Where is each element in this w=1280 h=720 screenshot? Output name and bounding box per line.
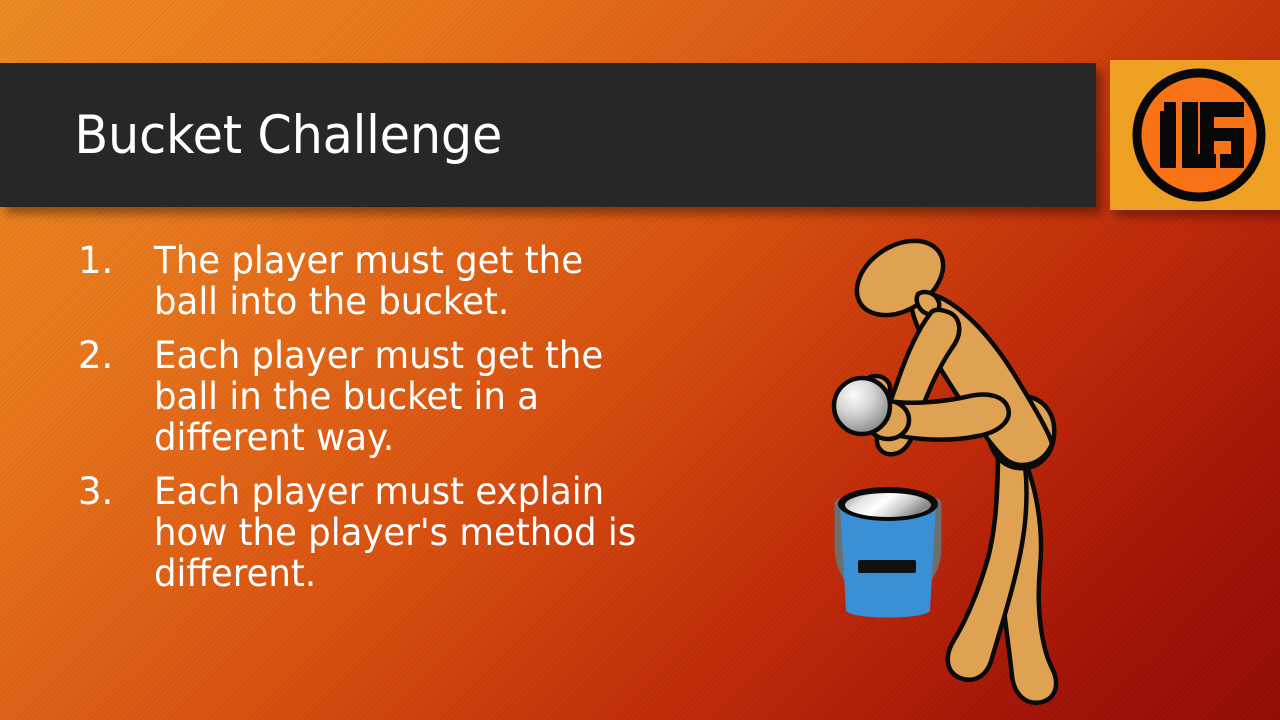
bucket-handle-grip xyxy=(858,560,916,573)
clipart-illustration xyxy=(820,228,1120,628)
bucket-rim-inner xyxy=(845,493,931,517)
bending-mannequin-figure xyxy=(843,226,1056,703)
page-title: Bucket Challenge xyxy=(0,109,502,162)
list-item: 3. Each player must explain how the play… xyxy=(78,471,658,594)
list-item-text: The player must get the ball into the bu… xyxy=(154,240,638,322)
list-item-number: 2. xyxy=(78,335,154,376)
list-item-text: Each player must get the ball in the buc… xyxy=(154,335,638,458)
list-item-number: 1. xyxy=(78,240,154,281)
ilg-monogram-logo xyxy=(1130,66,1268,204)
slide-canvas: Bucket Challenge 1. The player must get … xyxy=(0,0,1280,720)
title-bar: Bucket Challenge xyxy=(0,63,1096,207)
list-item: 1. The player must get the ball into the… xyxy=(78,240,658,322)
mannequin-with-ball-and-bucket-graphic xyxy=(820,228,1120,628)
numbered-list: 1. The player must get the ball into the… xyxy=(78,240,658,607)
silver-ball xyxy=(834,378,890,434)
list-item: 2. Each player must get the ball in the … xyxy=(78,335,658,458)
blue-bucket xyxy=(838,487,938,618)
logo-panel xyxy=(1110,60,1280,210)
list-item-text: Each player must explain how the player'… xyxy=(154,471,638,594)
list-item-number: 3. xyxy=(78,471,154,512)
